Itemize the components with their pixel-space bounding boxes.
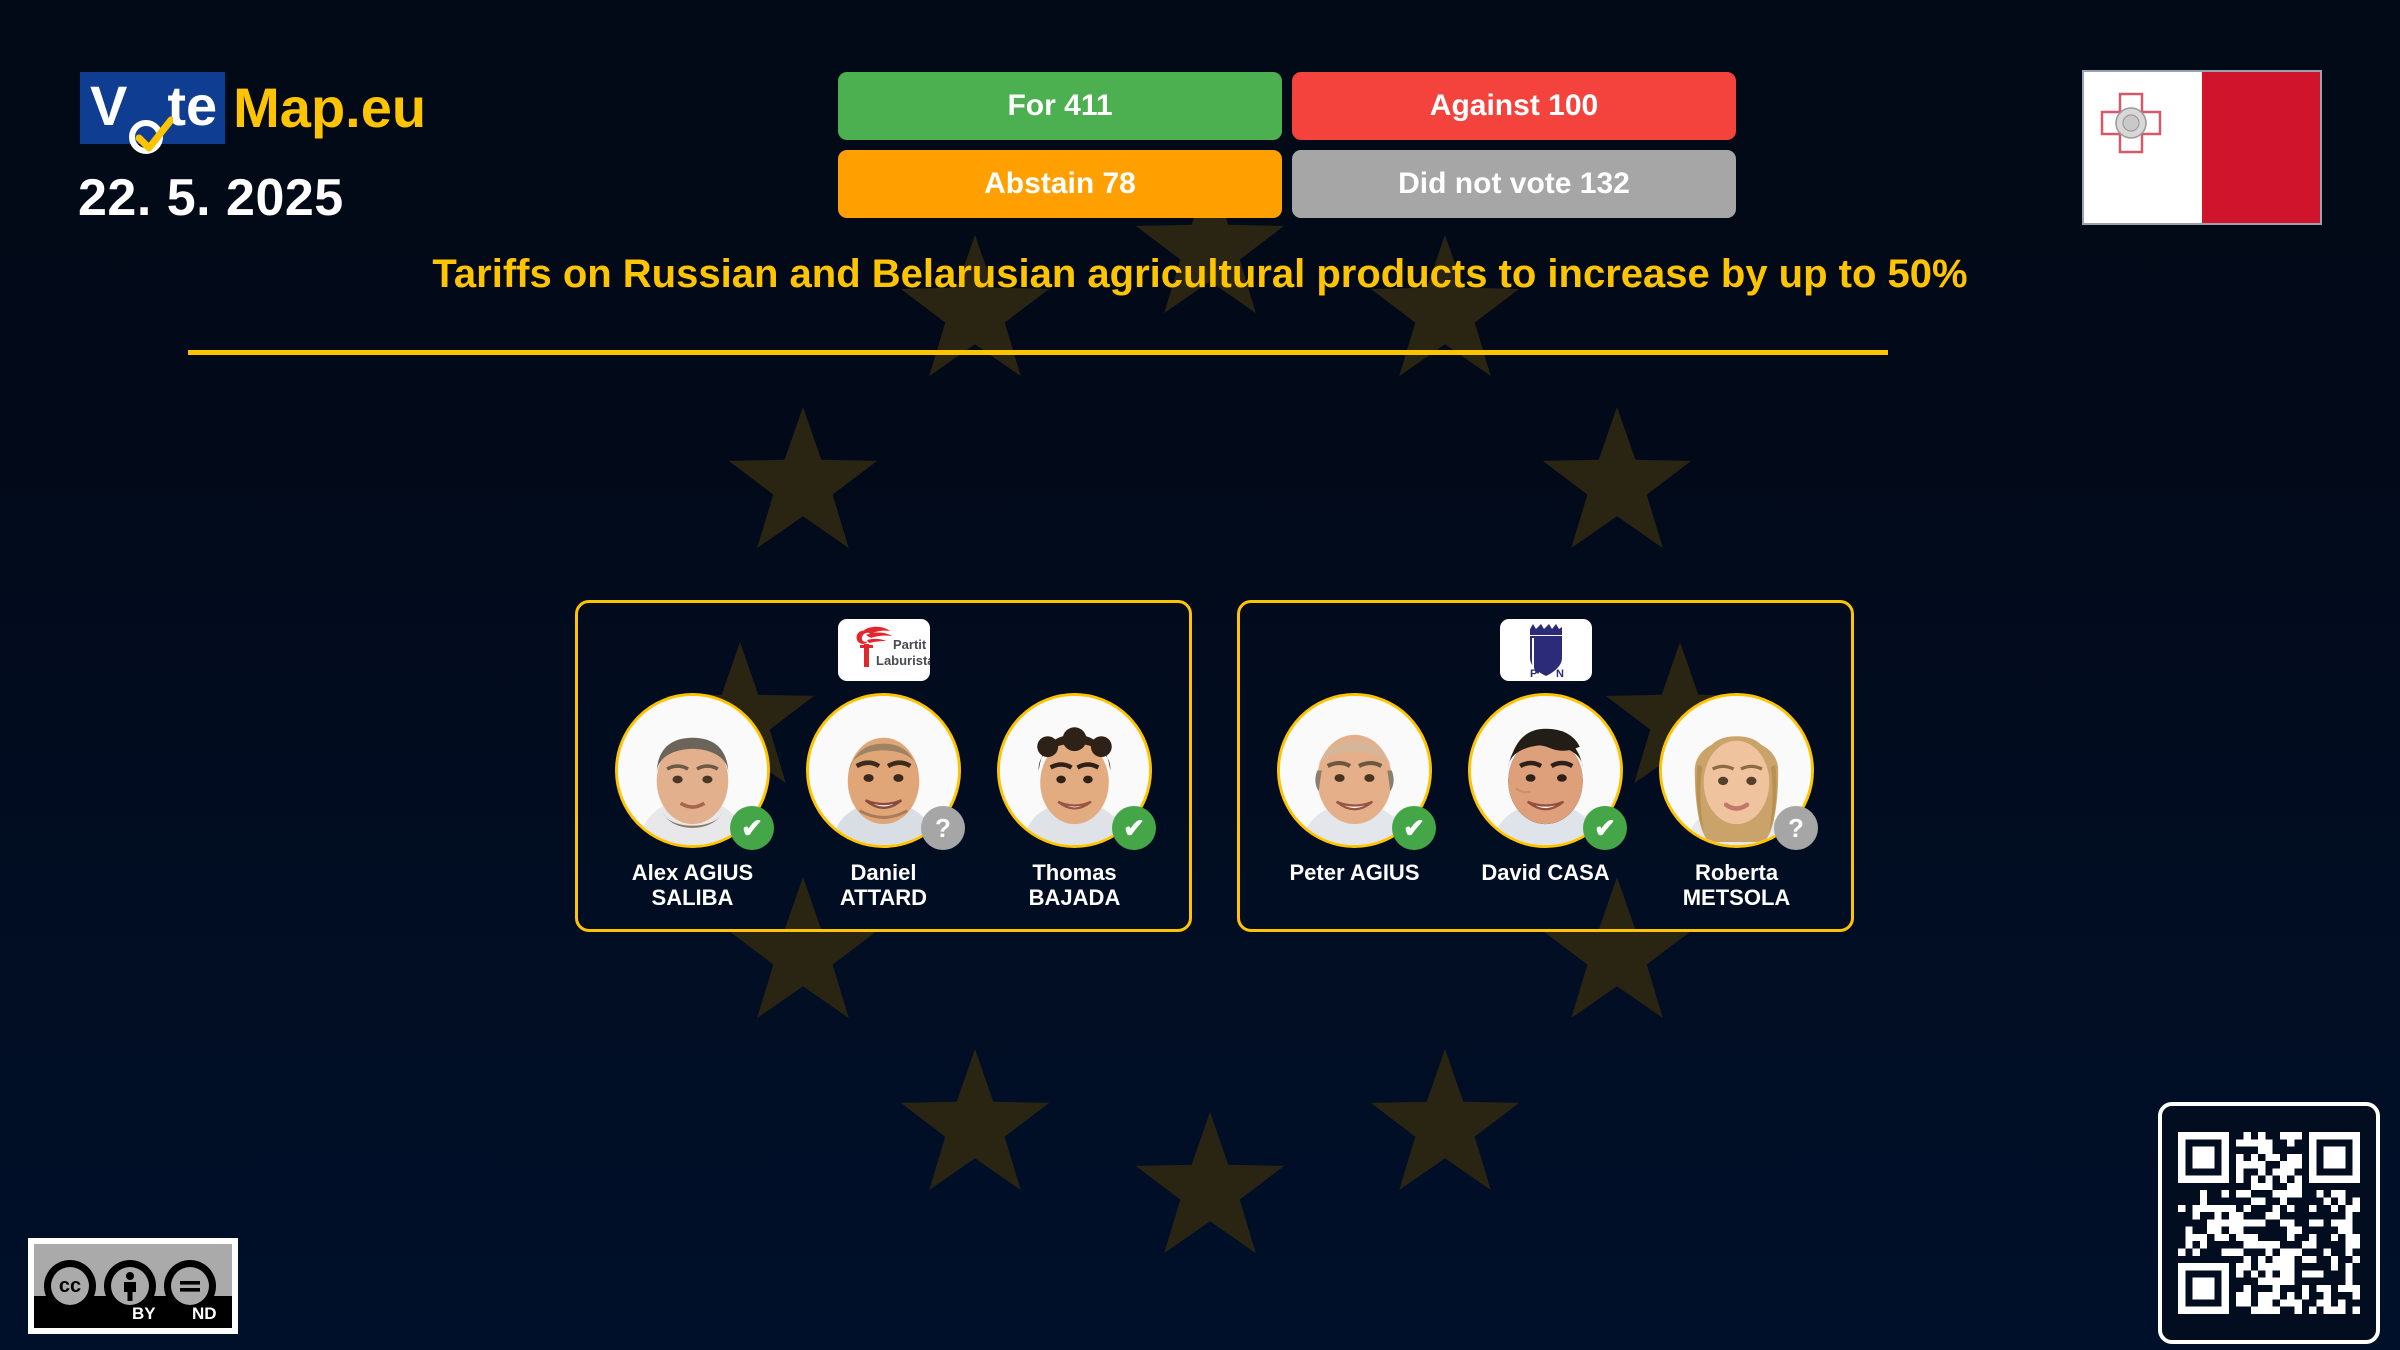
partit-nazzjonalista-logo: P N [1500, 619, 1592, 681]
vote-date: 22. 5. 2025 [78, 168, 344, 228]
mep-row: ✔ Alex AGIUS SALIBA [600, 693, 1167, 911]
mep-name: Alex AGIUS SALIBA [632, 860, 753, 911]
mep-peter-agius[interactable]: ✔ Peter AGIUS [1262, 693, 1447, 885]
tally-for[interactable]: For 411 [838, 72, 1282, 140]
cc-label: cc [51, 1267, 89, 1305]
vote-badge-did-not-vote: ? [921, 806, 965, 850]
party-logo-letter-p: P [1530, 668, 1537, 680]
party-logo-letter-n: N [1556, 668, 1564, 680]
mep-name: Daniel ATTARD [840, 860, 927, 911]
party-cards: Partit Laburista [575, 600, 1854, 932]
shield-crown-icon: P N [1500, 619, 1592, 681]
tally-against[interactable]: Against 100 [1292, 72, 1736, 140]
cc-nd-label: ND [192, 1304, 217, 1324]
title-divider [188, 350, 1888, 355]
vote-title: Tariffs on Russian and Belarusian agricu… [180, 252, 2220, 297]
mep-daniel-attard[interactable]: ? Daniel ATTARD [791, 693, 976, 911]
party-card-nazzjonalista[interactable]: P N [1237, 600, 1854, 932]
mep-alex-agius-saliba[interactable]: ✔ Alex AGIUS SALIBA [600, 693, 785, 911]
cc-icon: cc [44, 1260, 96, 1312]
logo-text-map: Map.eu [225, 80, 426, 136]
mep-david-casa[interactable]: ✔ David CASA [1453, 693, 1638, 885]
mep-roberta-metsola[interactable]: ? Roberta METSOLA [1644, 693, 1829, 911]
mep-name: Thomas BAJADA [1029, 860, 1121, 911]
logo-vote-box: V te [80, 72, 225, 144]
vote-badge-did-not-vote: ? [1774, 806, 1818, 850]
mep-name: Peter AGIUS [1289, 860, 1419, 885]
malta-flag [2082, 70, 2322, 225]
qr-code-image [2178, 1124, 2360, 1322]
george-cross-icon [2100, 92, 2162, 154]
tally-did-not-vote[interactable]: Did not vote 132 [1292, 150, 1736, 218]
cc-by-label: BY [132, 1304, 156, 1324]
torch-icon: Partit Laburista [838, 619, 930, 681]
tally-abstain[interactable]: Abstain 78 [838, 150, 1282, 218]
vote-badge-for: ✔ [1583, 806, 1627, 850]
qr-code[interactable] [2158, 1102, 2380, 1344]
vote-tally-panel: For 411 Against 100 Abstain 78 Did not v… [838, 72, 1736, 228]
mep-row: ✔ Peter AGIUS [1262, 693, 1829, 911]
vote-badge-for: ✔ [730, 806, 774, 850]
vote-badge-for: ✔ [1392, 806, 1436, 850]
mep-thomas-bajada[interactable]: ✔ Thomas BAJADA [982, 693, 1167, 911]
vote-badge-for: ✔ [1112, 806, 1156, 850]
mep-name: Roberta METSOLA [1683, 860, 1791, 911]
logo-text-te: te [167, 78, 217, 134]
party-logo-line1: Partit [893, 637, 927, 652]
logo-text-v: V [90, 78, 127, 134]
party-card-laburista[interactable]: Partit Laburista [575, 600, 1192, 932]
partit-laburista-logo: Partit Laburista [838, 619, 930, 681]
site-logo[interactable]: V te Map.eu [80, 72, 426, 144]
check-icon [133, 116, 173, 156]
cc-license-badge[interactable]: cc BY ND [28, 1238, 238, 1334]
mep-name: David CASA [1481, 860, 1609, 885]
party-logo-line2: Laburista [876, 653, 930, 668]
